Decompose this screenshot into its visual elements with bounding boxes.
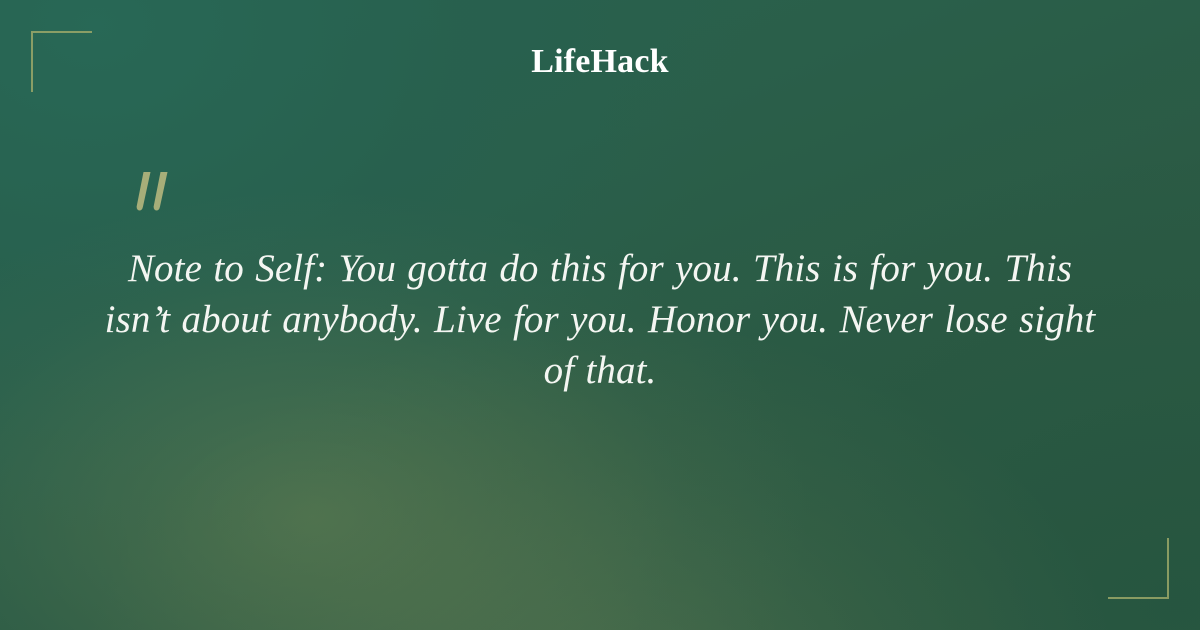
double-quote-glyph [131, 172, 175, 222]
quote-text: Note to Self: You gotta do this for you.… [100, 243, 1100, 396]
brand-logo: LifeHack [0, 40, 1200, 84]
quote-card: LifeHack Note to Self: You gotta do this… [0, 0, 1200, 630]
double-quote-icon [131, 172, 175, 222]
quote-block: Note to Self: You gotta do this for you.… [100, 243, 1100, 396]
corner-bracket-bottom-right-icon [1108, 538, 1169, 599]
